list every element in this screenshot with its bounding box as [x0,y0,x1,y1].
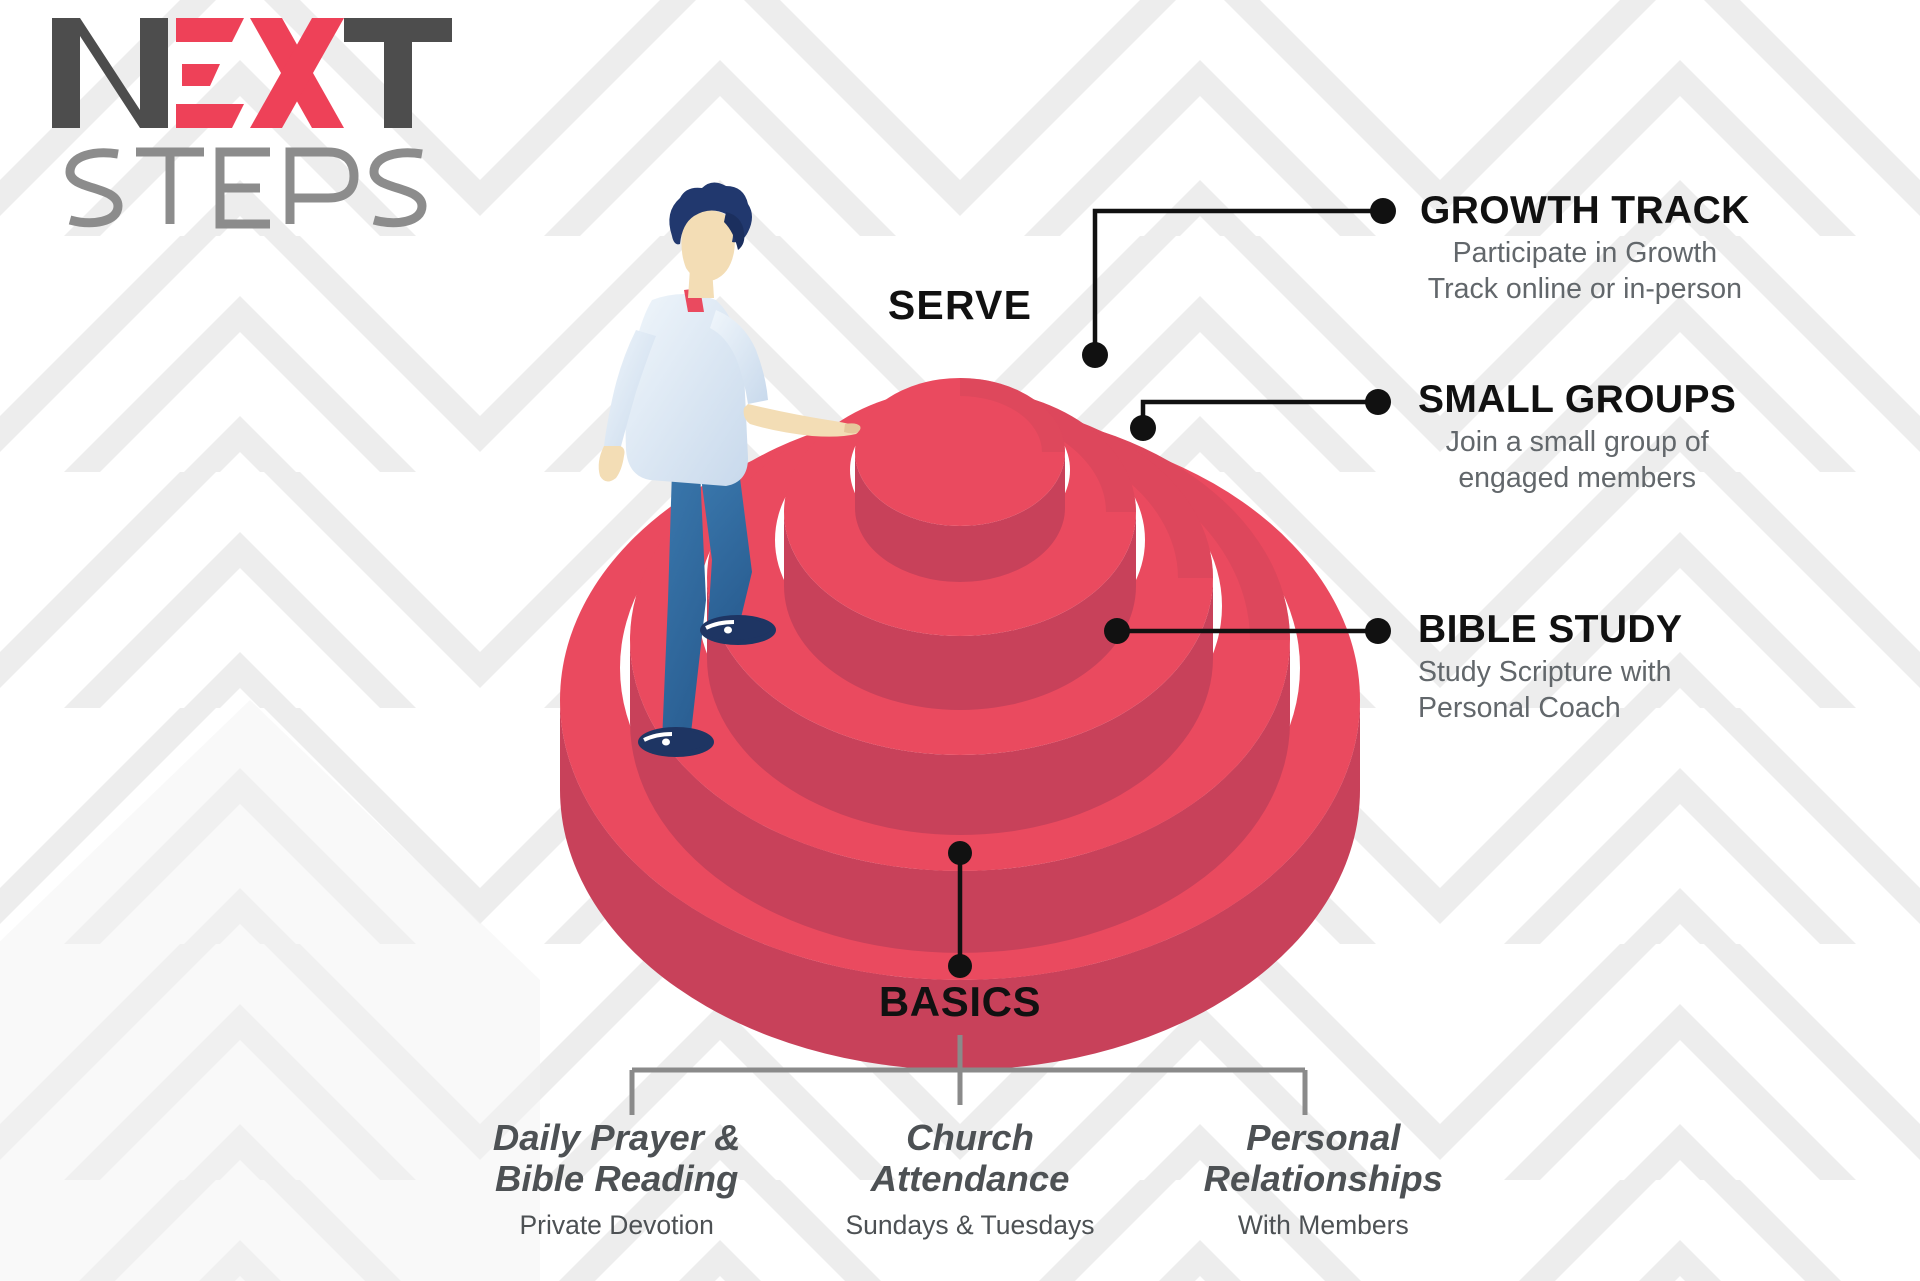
basics-child-subtitle: With Members [1147,1210,1500,1241]
logo-letter-N [52,18,168,128]
infographic-canvas: SERVE BASICS GROWTH TRACK [0,0,1920,1281]
basics-child-personal-relationships: Personal Relationships With Members [1147,1118,1500,1241]
logo-next-steps [44,6,464,236]
callout-description: Participate in Growth Track online or in… [1420,236,1750,307]
callout-description: Study Scripture with Personal Coach [1418,655,1682,726]
basics-child-title: Church Attendance [793,1118,1146,1200]
basics-child-subtitle: Sundays & Tuesdays [793,1210,1146,1241]
basics-child-church-attendance: Church Attendance Sundays & Tuesdays [793,1118,1146,1241]
basics-child-title: Daily Prayer & Bible Reading [440,1118,793,1200]
basics-label: BASICS [810,978,1110,1026]
logo-letter-T [344,18,452,128]
basics-child-title: Personal Relationships [1147,1118,1500,1200]
serve-label: SERVE [800,282,1120,329]
callout-description: Join a small group of engaged members [1418,425,1736,496]
basics-child-subtitle: Private Devotion [440,1210,793,1241]
callout-title: SMALL GROUPS [1418,379,1736,420]
callout-small-groups: SMALL GROUPS Join a small group of engag… [1418,379,1736,496]
logo-letters-EX [176,18,344,128]
callout-title: GROWTH TRACK [1420,190,1750,231]
callout-growth-track: GROWTH TRACK Participate in Growth Track… [1420,190,1750,307]
basics-child-daily-prayer: Daily Prayer & Bible Reading Private Dev… [440,1118,793,1241]
logo-word-steps [70,152,422,224]
basics-children-row: Daily Prayer & Bible Reading Private Dev… [440,1118,1500,1241]
callout-bible-study: BIBLE STUDY Study Scripture with Persona… [1418,609,1682,726]
callout-title: BIBLE STUDY [1418,609,1682,650]
